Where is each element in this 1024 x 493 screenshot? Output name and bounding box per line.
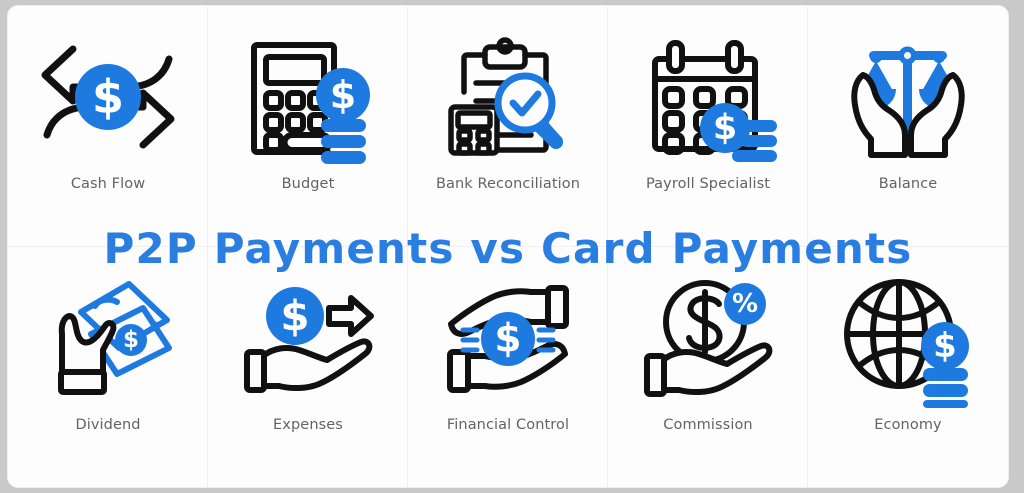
icon-cell-payroll-specialist[interactable]: $ Payroll Specialist <box>608 6 808 247</box>
icon-cell-financial-control[interactable]: $ Financial Control <box>408 247 608 488</box>
two-hands-dollar-icon: $ <box>428 263 588 413</box>
icon-label: Commission <box>663 417 752 433</box>
icon-set-card: $ Cash Flow <box>8 6 1008 487</box>
icon-cell-dividend[interactable]: $ Dividend <box>8 247 208 488</box>
icon-cell-balance[interactable]: Balance <box>808 6 1008 247</box>
page-background: $ Cash Flow <box>0 0 1024 493</box>
svg-text:%: % <box>732 289 758 319</box>
icon-grid: $ Cash Flow <box>8 6 1008 487</box>
icon-label: Expenses <box>273 417 343 433</box>
icon-label: Cash Flow <box>71 176 145 192</box>
icon-label: Payroll Specialist <box>646 176 770 192</box>
svg-text:$: $ <box>123 327 139 353</box>
cash-flow-icon: $ <box>28 22 188 172</box>
icon-cell-bank-reconciliation[interactable]: Bank Reconciliation <box>408 6 608 247</box>
globe-coins-icon: $ <box>828 263 988 413</box>
hand-dollar-arrow-icon: $ <box>228 263 388 413</box>
svg-text:$: $ <box>494 316 521 361</box>
icon-label: Bank Reconciliation <box>436 176 580 192</box>
hand-banknotes-icon: $ <box>28 263 188 413</box>
hands-scales-icon <box>828 22 988 172</box>
calendar-coins-icon: $ <box>628 22 788 172</box>
svg-text:$: $ <box>713 108 737 148</box>
icon-cell-commission[interactable]: % Commission <box>608 247 808 488</box>
icon-label: Budget <box>282 176 335 192</box>
icon-label: Dividend <box>75 417 140 433</box>
svg-text:$: $ <box>280 291 309 340</box>
icon-label: Financial Control <box>447 417 569 433</box>
icon-cell-economy[interactable]: $ Economy <box>808 247 1008 488</box>
icon-cell-budget[interactable]: $ Budget <box>208 6 408 247</box>
svg-text:$: $ <box>92 70 124 124</box>
clipboard-check-magnifier-icon <box>428 22 588 172</box>
hand-dollar-percent-icon: % <box>628 263 788 413</box>
svg-text:$: $ <box>330 73 356 117</box>
icon-label: Balance <box>879 176 938 192</box>
icon-cell-expenses[interactable]: $ Expenses <box>208 247 408 488</box>
icon-label: Economy <box>874 417 941 433</box>
icon-cell-cash-flow[interactable]: $ Cash Flow <box>8 6 208 247</box>
svg-text:$: $ <box>933 326 957 366</box>
budget-calculator-coins-icon: $ <box>228 22 388 172</box>
